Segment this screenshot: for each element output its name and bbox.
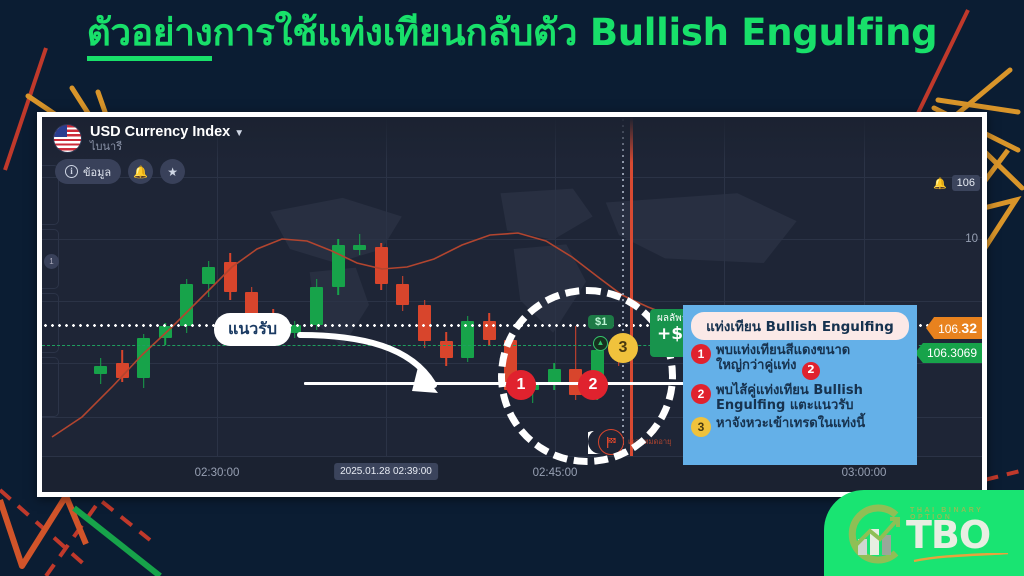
us-flag-icon	[54, 125, 81, 152]
info-item-line1: หาจังหวะเข้าเทรดในแท่งนี้	[716, 416, 865, 431]
toolbar-segment[interactable]	[42, 293, 59, 353]
info-panel-heading: แท่งเทียน Bullish Engulfing	[691, 312, 909, 340]
info-list-item: 2 พบไส้คู่แท่งเทียน Bullish Engulfing แต…	[691, 383, 909, 414]
info-bullet-3: 3	[691, 417, 711, 437]
time-tooltip: 2025.01.28 02:39:00	[334, 463, 438, 480]
toolbar-segment[interactable]: 1	[42, 229, 59, 289]
price-alert-badge[interactable]: 🔔 106	[933, 175, 980, 191]
chart-header: USD Currency Index ▼ ไบนารี i ข้อมูล 🔔 ★	[42, 117, 982, 163]
brand-logo: THAI BINARY OPTION TBO	[824, 490, 1024, 576]
time-tick: 03:00:00	[842, 467, 887, 479]
chevron-down-icon: ▼	[234, 128, 244, 139]
info-item-text-2: พบไส้คู่แท่งเทียน Bullish Engulfing แตะแ…	[716, 383, 863, 414]
info-button[interactable]: i ข้อมูล	[55, 159, 121, 184]
toolbar-segment[interactable]	[42, 357, 59, 417]
symbol-name: USD Currency Index	[90, 124, 230, 140]
current-price-whole: 106.	[938, 322, 961, 336]
trade-direction-icon: ▲	[593, 336, 608, 351]
bid-price-tag: 106.3069	[915, 343, 982, 363]
info-item-text-3: หาจังหวะเข้าเทรดในแท่งนี้	[716, 416, 865, 431]
info-list-item: 3 หาจังหวะเข้าเทรดในแท่งนี้	[691, 416, 909, 437]
star-icon: ★	[167, 165, 178, 179]
support-label-chip: แนวรับ	[214, 313, 291, 346]
marker-2: 2	[578, 370, 608, 400]
toolbar-indicator-icon: 1	[44, 254, 59, 269]
info-bullet-2: 2	[691, 384, 711, 404]
marker-3: 3	[608, 333, 638, 363]
marker-1: 1	[506, 370, 536, 400]
bell-icon: 🔔	[133, 165, 148, 179]
price-tick: 10	[965, 233, 978, 245]
page-title: ตัวอย่างการใช้แท่งเทียนกลับตัว Bullish E…	[0, 14, 1024, 53]
time-tick: 02:45:00	[533, 467, 578, 479]
price-scale[interactable]: 🔔 106 10 106.32 106.3069	[926, 117, 982, 456]
time-tick: 02:30:00	[195, 467, 240, 479]
trade-amount-chip[interactable]: $1	[588, 315, 614, 329]
symbol-selector[interactable]: USD Currency Index ▼	[90, 124, 244, 141]
logo-swoosh-icon	[912, 553, 1012, 565]
info-item-line1: พบแท่งเทียนสีแดงขนาด	[716, 343, 850, 358]
info-bullet-1: 1	[691, 344, 711, 364]
current-price-bold: 32	[961, 320, 977, 336]
bell-icon: 🔔	[933, 177, 947, 190]
favorite-star-button[interactable]: ★	[160, 159, 185, 184]
inline-badge-2: 2	[802, 362, 820, 380]
logo-name: TBO	[906, 513, 990, 557]
info-item-line1: พบไส้คู่แท่งเทียน Bullish	[716, 383, 863, 398]
page-title-underlined: ตัวอย่าง	[87, 11, 213, 61]
info-list-item: 1 พบแท่งเทียนสีแดงขนาด ใหญ่กว่าคู่แท่ง 2	[691, 343, 909, 380]
chart-left-toolbar[interactable]: 1	[42, 165, 59, 446]
info-button-label: ข้อมูล	[83, 163, 111, 181]
current-price-tag: 106.32	[926, 317, 982, 339]
price-alert-value: 106	[952, 175, 980, 191]
page-title-rest: การใช้แท่งเทียนกลับตัว Bullish Engulfing	[212, 11, 937, 54]
info-item-line2-pre: ใหญ่กว่าคู่แท่ง	[716, 358, 801, 373]
info-panel: แท่งเทียน Bullish Engulfing 1 พบแท่งเทีย…	[683, 305, 917, 465]
symbol-subtitle: ไบนารี	[90, 141, 244, 154]
info-item-line2-pre: Engulfing แตะแนวรับ	[716, 398, 853, 413]
info-item-text-1: พบแท่งเทียนสีแดงขนาด ใหญ่กว่าคู่แท่ง 2	[716, 343, 850, 380]
alert-bell-button[interactable]: 🔔	[128, 159, 153, 184]
info-icon: i	[65, 165, 78, 178]
